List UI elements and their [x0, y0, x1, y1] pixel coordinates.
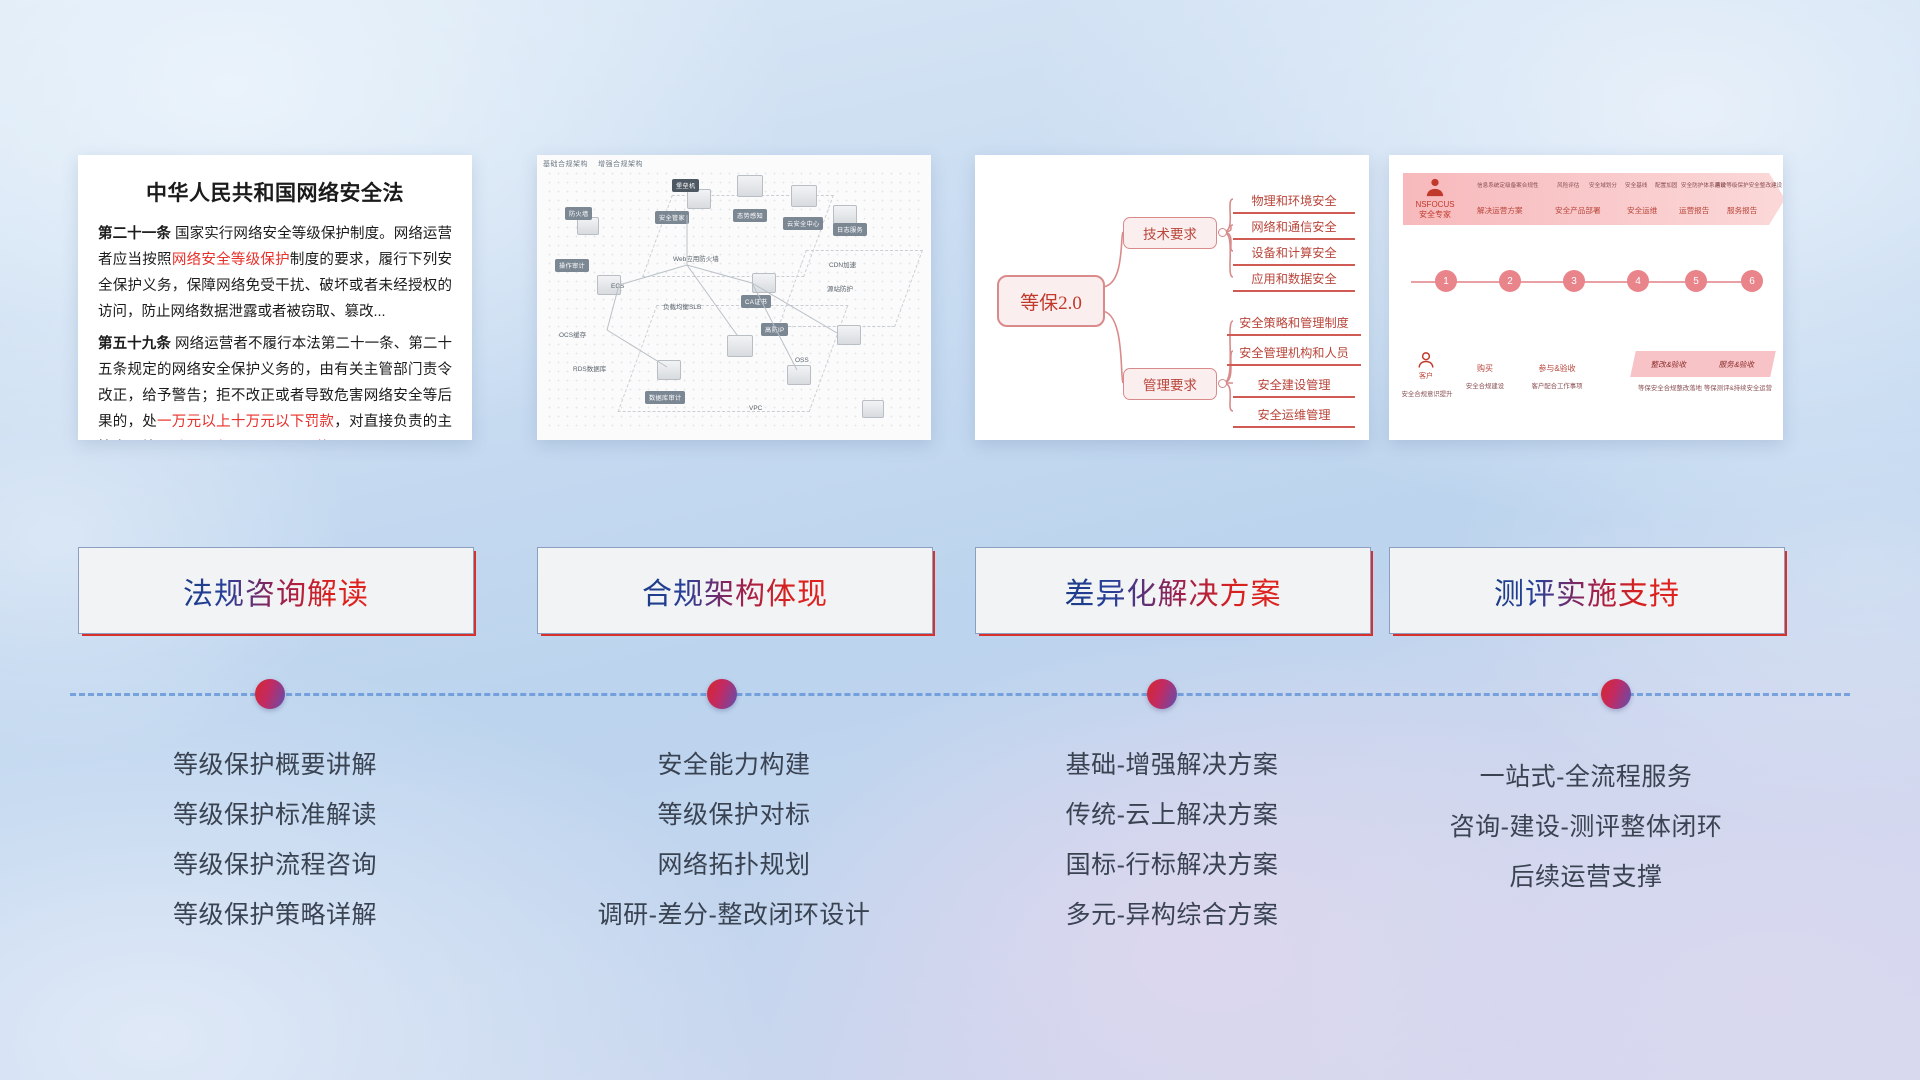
section-title-assessment-support[interactable]: 测评实施支持	[1389, 547, 1785, 634]
list-item: 等级保护对标	[537, 790, 931, 840]
nsfocus-band-tag: 配置加固	[1655, 181, 1677, 189]
section-title-label: 差异化解决方案	[1065, 569, 1282, 613]
nsfocus-column-label: 服务报告	[1727, 205, 1757, 216]
nsfocus-footer-caption: 客户配合工作事项	[1521, 381, 1593, 390]
mindmap-leaf[interactable]: 安全运维管理	[1233, 401, 1355, 428]
mindmap-leaf[interactable]: 安全建设管理	[1233, 371, 1355, 398]
mindmap-collapse-icon[interactable]	[1218, 228, 1227, 237]
list-item: 一站式-全流程服务	[1389, 752, 1783, 802]
nsfocus-axis	[1411, 281, 1761, 283]
nsfocus-customer-role: 客户	[1411, 371, 1441, 381]
law-paragraph-21: 第二十一条 国家实行网络安全等级保护制度。网络运营者应当按照网络安全等级保护制度…	[98, 221, 452, 325]
nsfocus-footer-caption: 等保测评&持续安全运营	[1693, 383, 1783, 392]
law-article-number: 第五十九条	[98, 336, 171, 352]
mindmap-leaf[interactable]: 设备和计算安全	[1233, 239, 1355, 266]
list-item: 基础-增强解决方案	[975, 740, 1369, 790]
nsfocus-step[interactable]: 2	[1499, 270, 1521, 292]
nsfocus-footer-title: 参与&验收	[1529, 363, 1585, 374]
bullet-column-3: 基础-增强解决方案 传统-云上解决方案 国标-行标解决方案 多元-异构综合方案	[975, 740, 1369, 940]
mindmap-branch-management[interactable]: 管理要求	[1123, 368, 1217, 400]
nsfocus-footer-caption: 安全合规建设	[1455, 381, 1515, 390]
mindmap-root[interactable]: 等保2.0	[997, 275, 1105, 327]
list-item: 网络拓扑规划	[537, 840, 931, 890]
section-title-legal-consulting[interactable]: 法规咨询解读	[78, 547, 474, 634]
mindmap-leaf[interactable]: 网络和通信安全	[1233, 213, 1355, 240]
cards-row: 中华人民共和国网络安全法 第二十一条 国家实行网络安全等级保护制度。网络运营者应…	[0, 0, 1920, 300]
list-item: 咨询-建设-测评整体闭环	[1389, 802, 1783, 852]
law-highlight: 网络安全等级保护	[172, 252, 290, 268]
list-item: 等级保护标准解读	[78, 790, 472, 840]
section-title-label: 法规咨询解读	[183, 569, 369, 613]
list-item: 等级保护流程咨询	[78, 840, 472, 890]
nsfocus-canvas: NSFOCUS 安全专家 信息系统定级备案合规性 风险评估 安全域划分 安全基线…	[1389, 155, 1783, 440]
timeline-marker-2[interactable]	[707, 679, 737, 709]
law-highlight: 一万元以上十万元以下罚款	[157, 414, 334, 430]
nsfocus-column-label: 安全产品部署	[1555, 205, 1601, 216]
nsfocus-band-tag: 安全基线	[1625, 181, 1647, 189]
card-law-document[interactable]: 中华人民共和国网络安全法 第二十一条 国家实行网络安全等级保护制度。网络运营者应…	[78, 155, 472, 440]
timeline-marker-4[interactable]	[1601, 679, 1631, 709]
nsfocus-customer-icon: 客户	[1411, 351, 1441, 385]
nsfocus-brand: NSFOCUS	[1407, 200, 1463, 210]
user-icon	[1417, 351, 1435, 369]
section-title-label: 测评实施支持	[1494, 569, 1680, 613]
nsfocus-footer-box: 整改&验收	[1630, 351, 1708, 377]
nsfocus-logo: NSFOCUS 安全专家	[1407, 177, 1463, 221]
timeline-dashed-line	[70, 693, 1850, 696]
bullet-column-2: 安全能力构建 等级保护对标 网络拓扑规划 调研-差分-整改闭环设计	[537, 740, 931, 940]
nsfocus-footer-title: 购买	[1463, 363, 1507, 374]
mindmap-branch-technical[interactable]: 技术要求	[1123, 217, 1217, 249]
mindmap-leaf[interactable]: 应用和数据安全	[1233, 265, 1355, 292]
nsfocus-step[interactable]: 5	[1685, 270, 1707, 292]
nsfocus-band-tag: 安全域划分	[1589, 181, 1617, 189]
list-item: 多元-异构综合方案	[975, 890, 1369, 940]
law-title: 中华人民共和国网络安全法	[98, 177, 452, 207]
card-architecture-diagram[interactable]: 基础合规架构增强合规架构 堡垒机 安全管家 防火墙 态势感知 云安全中心 日志服…	[537, 155, 931, 440]
list-item: 等级保护概要讲解	[78, 740, 472, 790]
nsfocus-column-label: 运营报告	[1679, 205, 1709, 216]
bullet-column-1: 等级保护概要讲解 等级保护标准解读 等级保护流程咨询 等级保护策略详解	[78, 740, 472, 940]
mindmap-canvas: 等保2.0 技术要求 管理要求 物理和环境安全 网络和通信安全 设备和计算安全 …	[975, 155, 1369, 440]
nsfocus-step[interactable]: 3	[1563, 270, 1585, 292]
nsfocus-footer-caption: 安全合规意识提升	[1399, 389, 1455, 398]
card-service-timeline[interactable]: NSFOCUS 安全专家 信息系统定级备案合规性 风险评估 安全域划分 安全基线…	[1389, 155, 1783, 440]
list-item: 国标-行标解决方案	[975, 840, 1369, 890]
mindmap-leaf[interactable]: 安全策略和管理制度	[1227, 309, 1361, 336]
mindmap-leaf[interactable]: 安全管理机构和人员	[1227, 339, 1361, 366]
nsfocus-band-tag: 系统等级保护安全整改建设	[1715, 181, 1782, 189]
nsfocus-band-tag: 风险评估	[1557, 181, 1579, 189]
mindmap-collapse-icon[interactable]	[1218, 379, 1227, 388]
law-article-number: 第二十一条	[98, 226, 171, 242]
list-item: 安全能力构建	[537, 740, 931, 790]
list-item: 后续运营支撑	[1389, 852, 1783, 902]
nsfocus-column-label: 安全运维	[1627, 205, 1657, 216]
section-title-label: 合规架构体现	[642, 569, 828, 613]
nsfocus-column-label: 解决运营方案	[1477, 205, 1523, 216]
timeline-marker-1[interactable]	[255, 679, 285, 709]
list-item: 调研-差分-整改闭环设计	[537, 890, 931, 940]
list-item: 等级保护策略详解	[78, 890, 472, 940]
mindmap-leaf[interactable]: 物理和环境安全	[1233, 187, 1355, 214]
section-title-compliance-architecture[interactable]: 合规架构体现	[537, 547, 933, 634]
nsfocus-step[interactable]: 1	[1435, 270, 1457, 292]
section-title-differentiated-solutions[interactable]: 差异化解决方案	[975, 547, 1371, 634]
nsfocus-band-tag: 信息系统定级备案合规性	[1477, 181, 1539, 189]
nsfocus-brand-sub: 安全专家	[1407, 210, 1463, 220]
law-paragraph-59: 第五十九条 网络运营者不履行本法第二十一条、第二十五条规定的网络安全保护义务的，…	[98, 331, 452, 440]
list-item: 传统-云上解决方案	[975, 790, 1369, 840]
expert-person-icon	[1424, 177, 1446, 197]
card-mindmap[interactable]: 等保2.0 技术要求 管理要求 物理和环境安全 网络和通信安全 设备和计算安全 …	[975, 155, 1369, 440]
nsfocus-footer-box: 服务&验收	[1698, 351, 1776, 377]
timeline-marker-3[interactable]	[1147, 679, 1177, 709]
architecture-canvas: 基础合规架构增强合规架构 堡垒机 安全管家 防火墙 态势感知 云安全中心 日志服…	[537, 155, 931, 440]
diagram-connectors	[537, 155, 931, 440]
nsfocus-step[interactable]: 6	[1741, 270, 1763, 292]
bullet-column-4: 一站式-全流程服务 咨询-建设-测评整体闭环 后续运营支撑	[1389, 752, 1783, 902]
nsfocus-step[interactable]: 4	[1627, 270, 1649, 292]
law-document-body: 中华人民共和国网络安全法 第二十一条 国家实行网络安全等级保护制度。网络运营者应…	[78, 155, 472, 440]
